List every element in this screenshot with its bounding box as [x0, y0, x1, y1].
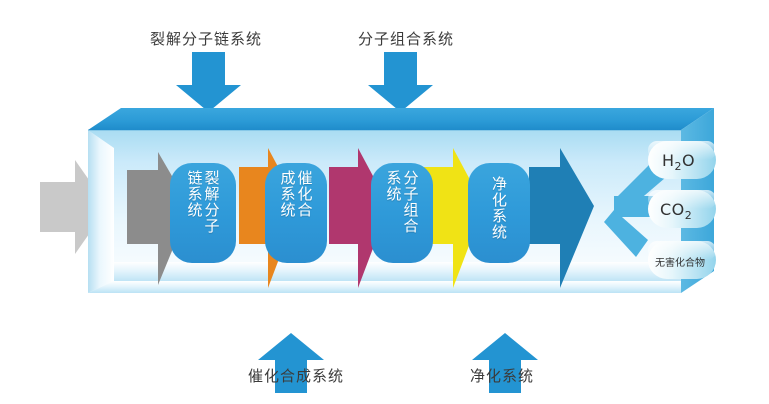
- output-label-harmless: 无害化合物: [655, 254, 705, 269]
- stage-label-catalytic-col-2: 成系统: [280, 170, 296, 218]
- stage-label-recombination: 分子组合 系统: [371, 170, 433, 258]
- output-label-h2o-main: H: [662, 151, 675, 170]
- callout-label-cracking: 裂解分子链系统: [150, 28, 262, 49]
- output-label-h2o-sub: 2: [675, 160, 683, 173]
- output-label-co2-main: CO: [660, 200, 685, 219]
- stage-label-recombination-col-2: 系统: [386, 170, 402, 202]
- stage-label-cracking-col-2: 链系统: [187, 170, 203, 218]
- stage-label-catalytic-col-1: 催化合: [297, 170, 313, 218]
- stage-label-cracking-col-1: 裂解分子: [204, 170, 220, 234]
- stage-label-purification: 净化系统: [468, 176, 530, 256]
- stage-label-recombination-col-1: 分子组合: [403, 170, 419, 234]
- callout-label-catalytic: 催化合成系统: [248, 365, 344, 386]
- stage-label-purification-col-1: 净化系统: [491, 176, 507, 240]
- callout-arrow-cracking: [176, 52, 241, 112]
- callout-label-recombination: 分子组合系统: [358, 28, 454, 49]
- output-label-h2o: H2O: [662, 151, 695, 173]
- stage-label-catalytic: 催化合 成系统: [265, 170, 327, 258]
- callout-label-purification: 净化系统: [470, 365, 534, 386]
- output-label-co2: CO2: [660, 200, 692, 222]
- output-label-h2o-tail: O: [682, 151, 695, 170]
- process-diagram: 裂解分子链系统 分子组合系统 催化合成系统 净化系统 裂解分子 链系统 催化合 …: [0, 0, 769, 404]
- callout-arrow-recombination: [368, 52, 433, 112]
- stage-label-cracking: 裂解分子 链系统: [170, 170, 236, 258]
- output-label-co2-sub: 2: [685, 209, 693, 222]
